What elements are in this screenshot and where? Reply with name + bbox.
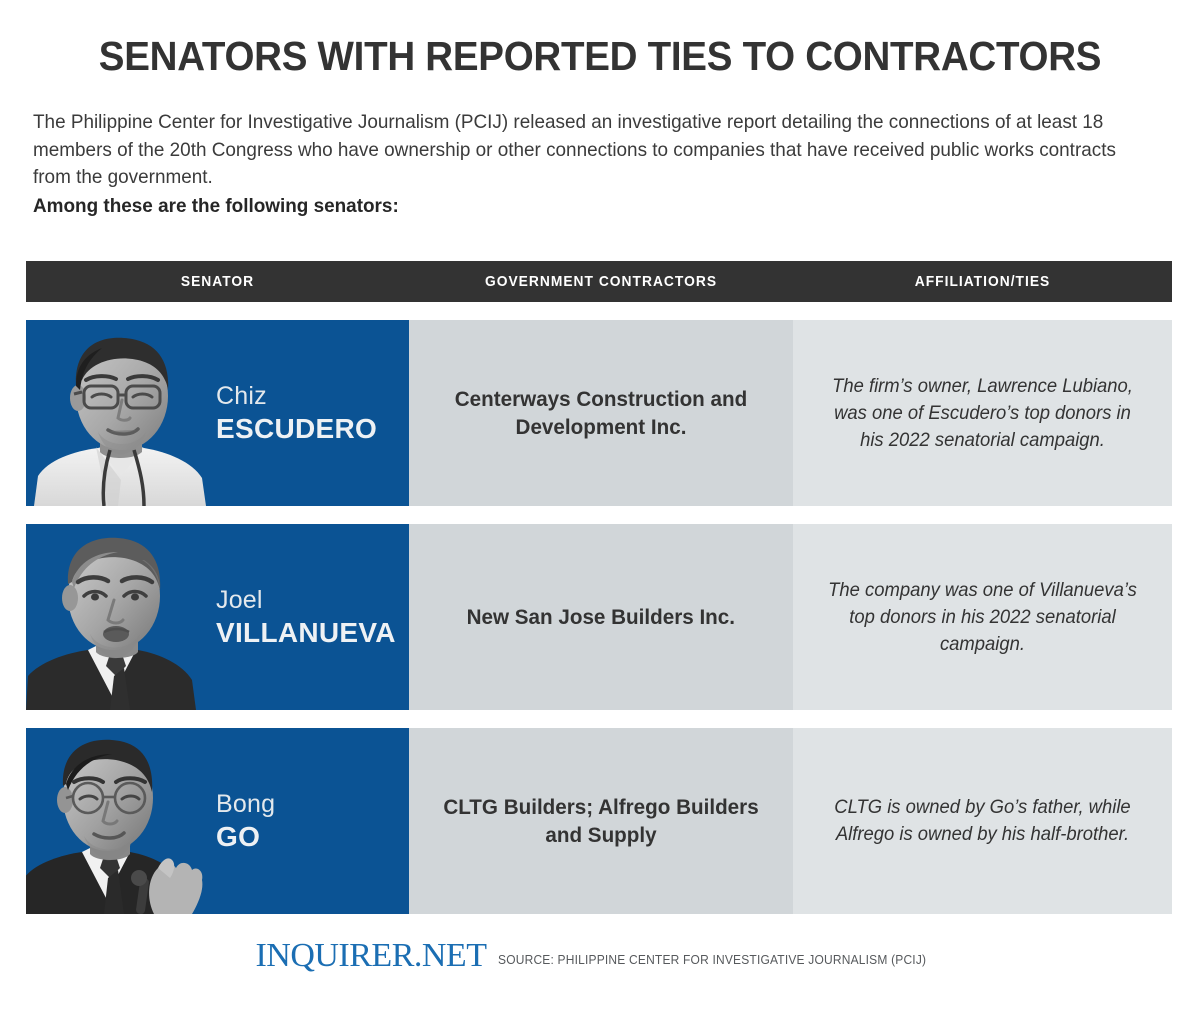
contractor-cell: CLTG Builders; Alfrego Builders and Supp… xyxy=(409,728,793,914)
column-header-affiliation: AFFILIATION/TIES xyxy=(808,273,1157,290)
table-row: Bong GO CLTG Builders; Alfrego Builders … xyxy=(26,728,1172,914)
affiliation-text: CLTG is owned by Go’s father, while Alfr… xyxy=(820,794,1145,848)
senator-name: Chiz ESCUDERO xyxy=(216,381,377,445)
senator-last-name: ESCUDERO xyxy=(216,412,377,445)
senator-name: Joel VILLANUEVA xyxy=(216,585,396,649)
senator-first-name: Chiz xyxy=(216,381,377,412)
senator-name: Bong GO xyxy=(216,789,275,853)
contractor-cell: Centerways Construction and Development … xyxy=(409,320,793,506)
infographic-root: SENATORS WITH REPORTED TIES TO CONTRACTO… xyxy=(0,0,1200,1019)
page-title: SENATORS WITH REPORTED TIES TO CONTRACTO… xyxy=(36,32,1164,80)
portrait-joel-villanueva xyxy=(26,524,208,710)
affiliation-text: The firm’s owner, Lawrence Lubiano, was … xyxy=(820,373,1145,454)
affiliation-cell: The firm’s owner, Lawrence Lubiano, was … xyxy=(793,320,1172,506)
senator-first-name: Joel xyxy=(216,585,396,616)
table-row: Chiz ESCUDERO Centerways Construction an… xyxy=(26,320,1172,506)
senator-last-name: GO xyxy=(216,820,275,853)
column-header-contractors: GOVERNMENT CONTRACTORS xyxy=(424,273,777,290)
portrait-bong-go xyxy=(26,728,208,914)
senator-cell: Chiz ESCUDERO xyxy=(26,320,409,506)
contractor-text: New San Jose Builders Inc. xyxy=(467,603,735,631)
portrait-chiz-escudero xyxy=(26,320,208,506)
affiliation-text: The company was one of Villanueva’s top … xyxy=(820,577,1145,658)
affiliation-cell: CLTG is owned by Go’s father, while Alfr… xyxy=(793,728,1172,914)
table-header-row: SENATOR GOVERNMENT CONTRACTORS AFFILIATI… xyxy=(26,261,1172,302)
contractor-text: CLTG Builders; Alfrego Builders and Supp… xyxy=(442,793,761,849)
senators-table: SENATOR GOVERNMENT CONTRACTORS AFFILIATI… xyxy=(26,261,1172,914)
senator-first-name: Bong xyxy=(216,789,275,820)
column-header-senator: SENATOR xyxy=(41,273,393,290)
inquirer-logo: INQUIRER.NET xyxy=(255,938,486,974)
senator-last-name: VILLANUEVA xyxy=(216,616,396,649)
source-attribution: SOURCE: PHILIPPINE CENTER FOR INVESTIGAT… xyxy=(498,952,926,968)
senator-cell: Joel VILLANUEVA xyxy=(26,524,409,710)
intro-paragraph: The Philippine Center for Investigative … xyxy=(33,109,1119,220)
table-row: Joel VILLANUEVA New San Jose Builders In… xyxy=(26,524,1172,710)
footer: INQUIRER.NET SOURCE: PHILIPPINE CENTER F… xyxy=(0,938,1200,974)
contractor-cell: New San Jose Builders Inc. xyxy=(409,524,793,710)
intro-body: The Philippine Center for Investigative … xyxy=(33,111,1116,188)
contractor-text: Centerways Construction and Development … xyxy=(442,385,761,441)
senator-cell: Bong GO xyxy=(26,728,409,914)
affiliation-cell: The company was one of Villanueva’s top … xyxy=(793,524,1172,710)
intro-lead-in: Among these are the following senators: xyxy=(33,193,1119,221)
